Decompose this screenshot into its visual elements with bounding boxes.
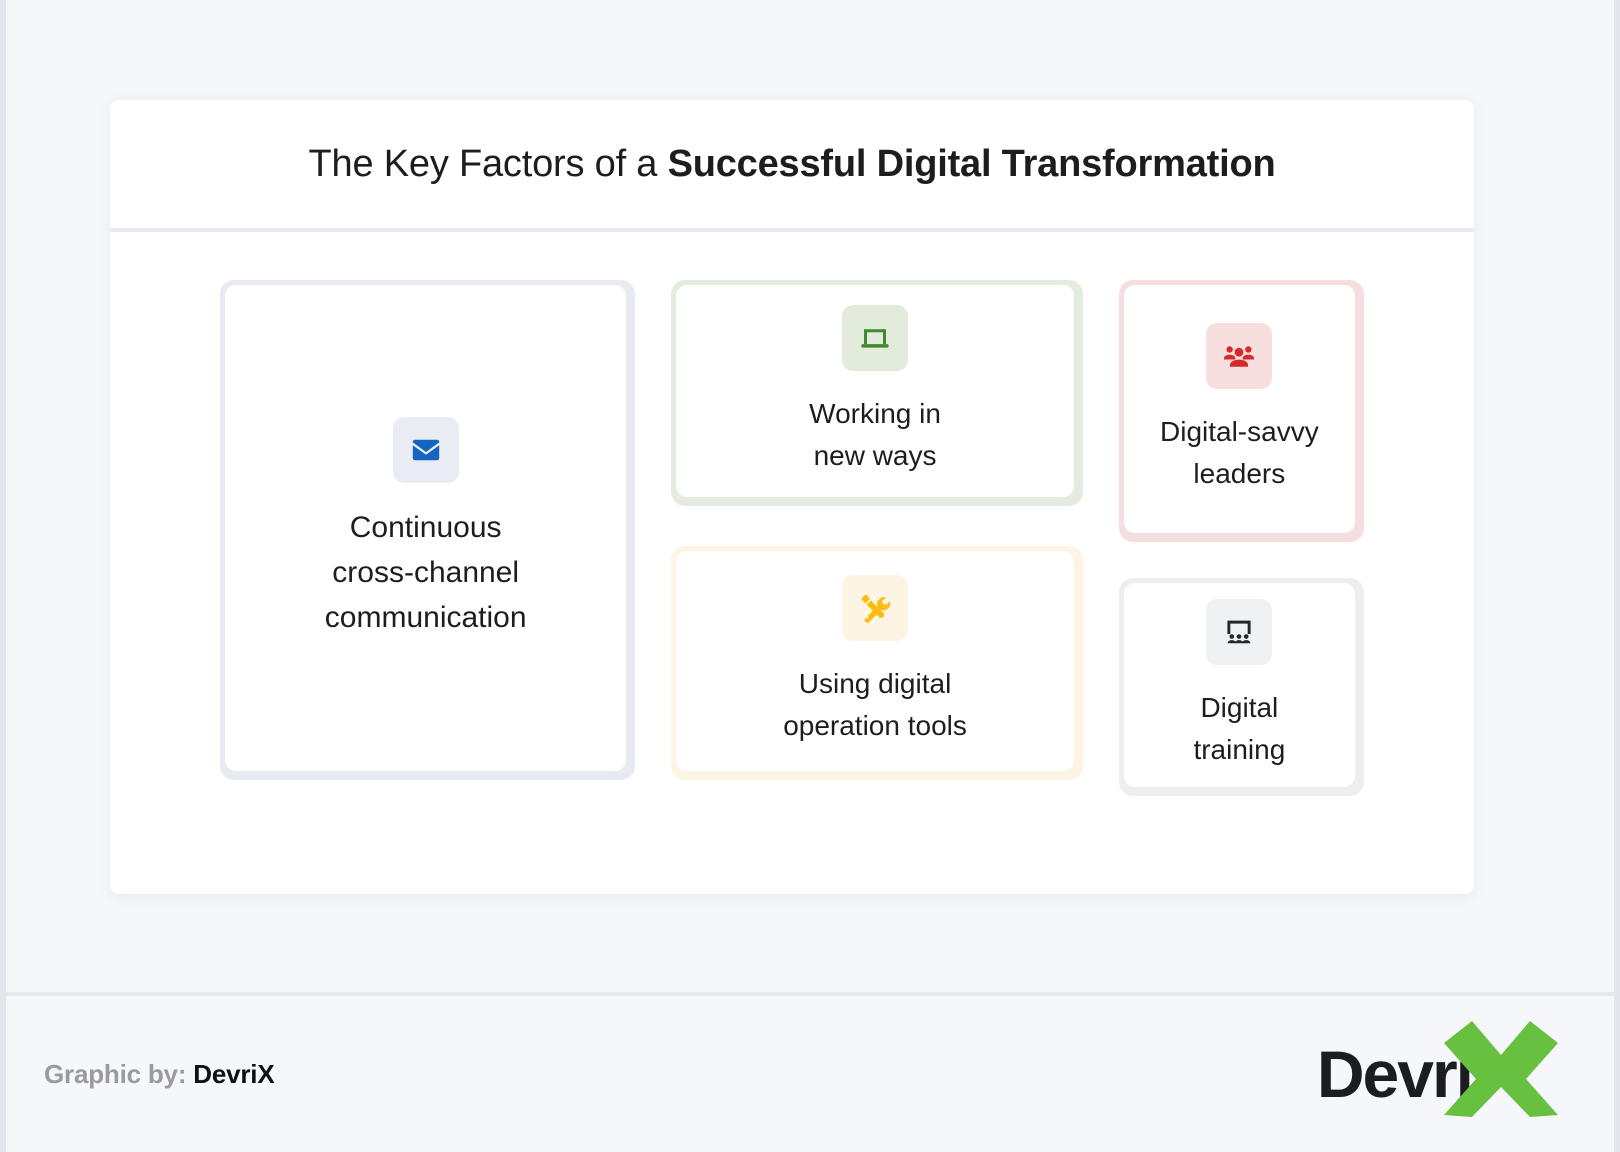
card-digital-savvy-leaders[interactable]: Digital-savvy leaders [1119,280,1364,542]
card-digital-training[interactable]: Digital training [1119,578,1364,796]
card-working-in-new-ways[interactable]: Working in new ways [671,280,1082,506]
card-inner: Digital training [1123,582,1356,788]
column-right: Digital-savvy leaders [1119,280,1364,796]
card-label: Digital-savvy leaders [1160,411,1319,495]
infographic-page: The Key Factors of a Successful Digital … [0,0,1620,1152]
page-title-bold: Successful Digital Transformation [668,143,1276,185]
card-label: Continuous cross-channel communication [325,505,527,640]
card-continuous-cross-channel-communication[interactable]: Continuous cross-channel communication [220,280,635,780]
page-title: The Key Factors of a Successful Digital … [309,143,1276,186]
card-label: Using digital operation tools [783,663,967,747]
card-inner: Using digital operation tools [675,550,1074,772]
envelope-icon [393,417,459,483]
page-title-regular: The Key Factors of a [309,143,668,185]
card-label: Working in new ways [809,393,941,477]
card-inner: Continuous cross-channel communication [224,284,627,772]
panel-body: Continuous cross-channel communication [110,232,1474,796]
panel-header: The Key Factors of a Successful Digital … [110,100,1474,232]
presentation-audience-icon [1206,599,1272,665]
column-left: Continuous cross-channel communication [220,280,635,780]
credit-line: Graphic by: DevriX [44,1059,274,1090]
column-middle: Working in new ways [671,280,1082,780]
tools-icon [842,575,908,641]
footer: Graphic by: DevriX Devri [6,992,1614,1152]
card-using-digital-operation-tools[interactable]: Using digital operation tools [671,546,1082,780]
card-inner: Digital-savvy leaders [1123,284,1356,534]
users-group-icon [1206,323,1272,389]
logo-x-mark-icon [1442,1017,1560,1126]
card-inner: Working in new ways [675,284,1074,498]
credit-brand: DevriX [193,1059,274,1089]
card-label: Digital training [1193,687,1285,771]
devrix-logo: Devri [1317,1035,1574,1113]
laptop-icon [842,305,908,371]
credit-prefix: Graphic by: [44,1059,193,1089]
main-panel: The Key Factors of a Successful Digital … [110,100,1474,894]
